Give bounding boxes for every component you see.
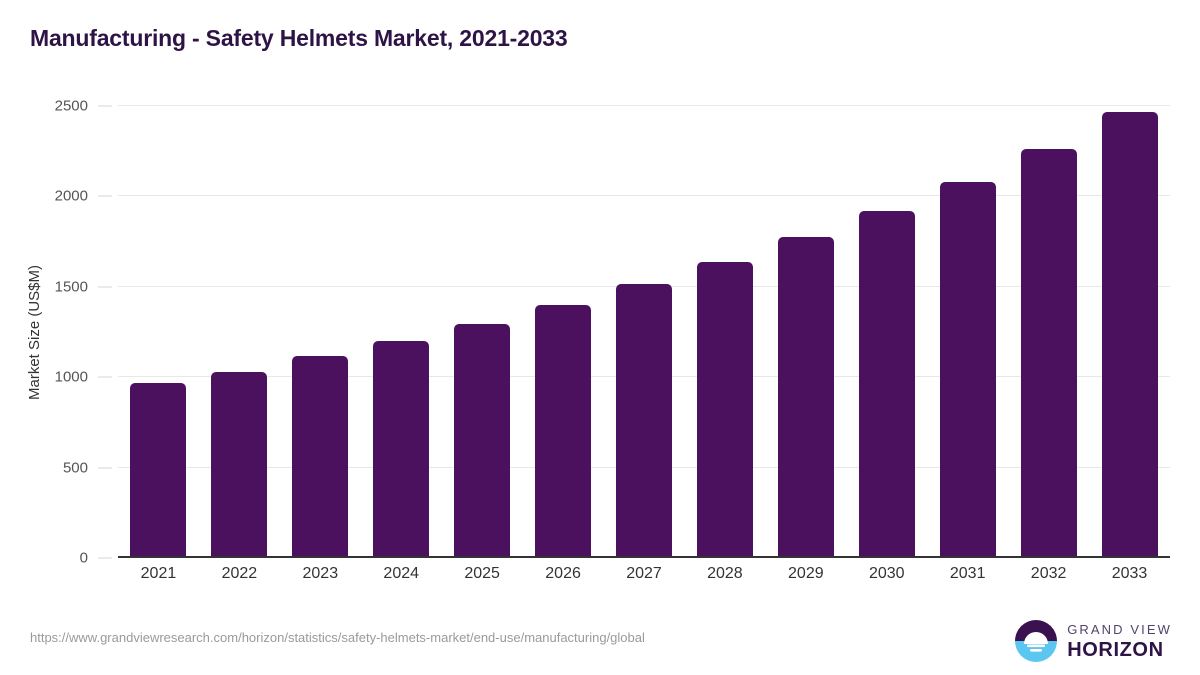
source-url[interactable]: https://www.grandviewresearch.com/horizo… xyxy=(30,630,645,645)
bar-series xyxy=(118,106,1170,558)
y-tick-mark xyxy=(98,196,112,197)
x-tick-label-2022: 2022 xyxy=(199,565,280,593)
y-tick-mark xyxy=(98,467,112,468)
bar-slot xyxy=(1008,106,1089,558)
bar-slot xyxy=(1089,106,1170,558)
y-tick-mark xyxy=(98,286,112,287)
bar-2031[interactable] xyxy=(940,182,996,558)
bar-2023[interactable] xyxy=(292,356,348,558)
bar-2030[interactable] xyxy=(859,211,915,558)
bar-slot xyxy=(280,106,361,558)
x-tick-label-2031: 2031 xyxy=(927,565,1008,593)
chart-page: Manufacturing - Safety Helmets Market, 2… xyxy=(0,0,1200,675)
y-tick-label: 1000 xyxy=(55,369,88,386)
x-tick-label-2028: 2028 xyxy=(684,565,765,593)
x-tick-label-2030: 2030 xyxy=(846,565,927,593)
y-axis: 05001000150020002500 xyxy=(0,106,112,558)
bar-slot xyxy=(765,106,846,558)
logo-text: GRAND VIEW HORIZON xyxy=(1067,623,1172,660)
bar-2021[interactable] xyxy=(130,383,186,558)
bar-slot xyxy=(846,106,927,558)
x-tick-label-2032: 2032 xyxy=(1008,565,1089,593)
bar-2027[interactable] xyxy=(616,284,672,558)
bar-slot xyxy=(361,106,442,558)
y-tick-label: 1500 xyxy=(55,278,88,295)
logo-top-text: GRAND VIEW xyxy=(1067,623,1172,636)
bar-slot xyxy=(604,106,685,558)
bar-2025[interactable] xyxy=(454,324,510,558)
y-tick-label: 500 xyxy=(63,459,88,476)
y-tick-label: 2000 xyxy=(55,188,88,205)
y-tick-label: 2500 xyxy=(55,98,88,115)
bar-2033[interactable] xyxy=(1102,112,1158,558)
y-tick-mark xyxy=(98,106,112,107)
x-tick-label-2026: 2026 xyxy=(523,565,604,593)
bar-slot xyxy=(442,106,523,558)
bar-2024[interactable] xyxy=(373,341,429,558)
bar-slot xyxy=(199,106,280,558)
bar-slot xyxy=(684,106,765,558)
bar-2022[interactable] xyxy=(211,372,267,558)
x-tick-label-2033: 2033 xyxy=(1089,565,1170,593)
y-tick-mark xyxy=(98,377,112,378)
y-tick-mark xyxy=(98,558,112,559)
x-tick-label-2024: 2024 xyxy=(361,565,442,593)
bar-slot xyxy=(118,106,199,558)
x-tick-label-2021: 2021 xyxy=(118,565,199,593)
bar-slot xyxy=(523,106,604,558)
bar-2026[interactable] xyxy=(535,305,591,558)
plot-area xyxy=(118,106,1170,558)
x-tick-label-2029: 2029 xyxy=(765,565,846,593)
y-tick-label: 0 xyxy=(80,550,88,567)
bar-slot xyxy=(927,106,1008,558)
x-tick-label-2027: 2027 xyxy=(604,565,685,593)
grand-view-horizon-circle-icon xyxy=(1014,619,1058,663)
bar-2029[interactable] xyxy=(778,237,834,558)
x-axis: 2021202220232024202520262027202820292030… xyxy=(118,565,1170,593)
bar-2032[interactable] xyxy=(1021,149,1077,558)
brand-logo: GRAND VIEW HORIZON xyxy=(1014,618,1172,664)
bar-2028[interactable] xyxy=(697,262,753,558)
x-tick-label-2023: 2023 xyxy=(280,565,361,593)
page-title: Manufacturing - Safety Helmets Market, 2… xyxy=(30,25,568,52)
x-axis-baseline xyxy=(118,556,1170,558)
x-tick-label-2025: 2025 xyxy=(442,565,523,593)
logo-bottom-text: HORIZON xyxy=(1067,640,1172,660)
